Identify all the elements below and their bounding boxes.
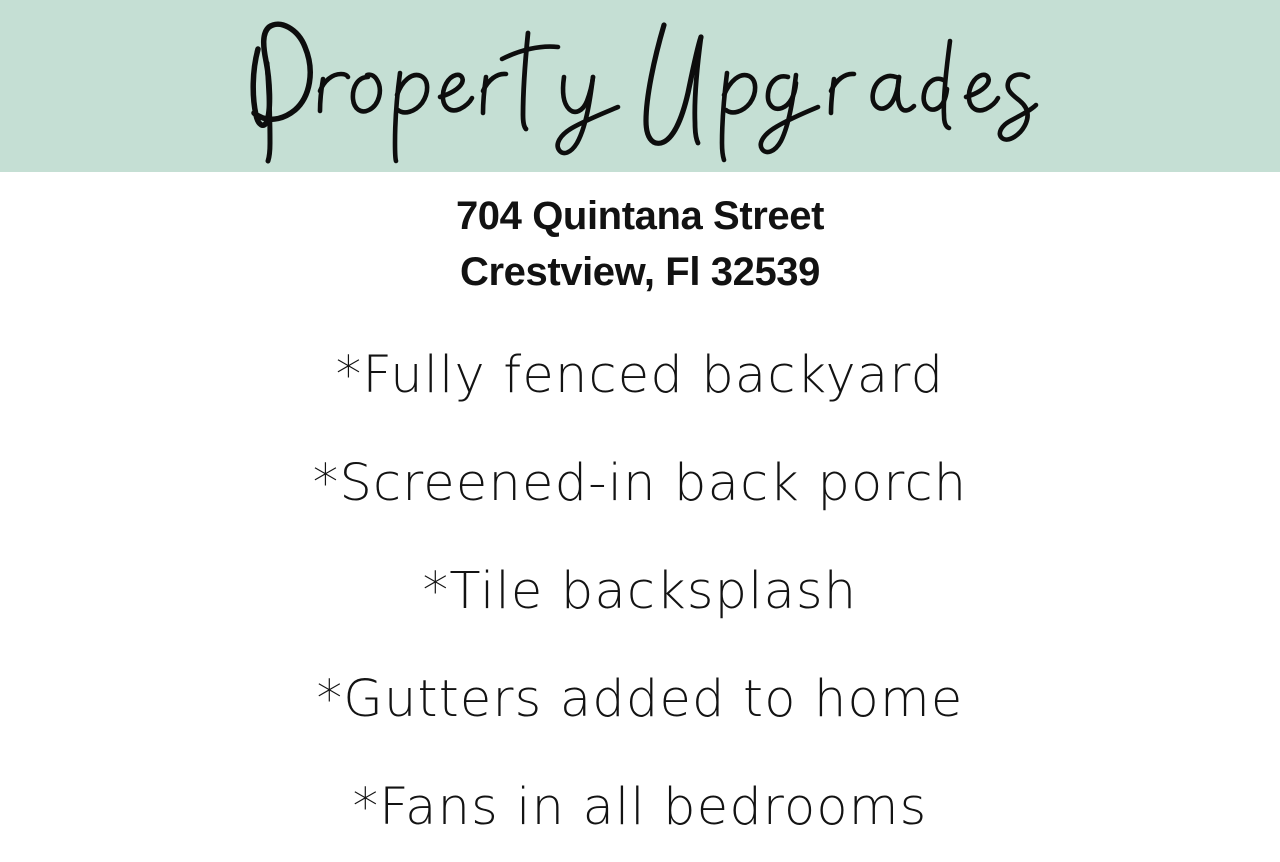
flyer-canvas: Property Upgrades <box>0 0 1280 852</box>
script-title-artwork: Property Upgrades <box>240 11 1040 161</box>
list-item: *Tile backsplash <box>0 538 1280 646</box>
list-item: *Fans in all bedrooms <box>0 754 1280 862</box>
script-word-property <box>253 24 618 161</box>
list-item: *Gutters added to home <box>0 646 1280 754</box>
list-item: *Screened-in back porch <box>0 430 1280 538</box>
list-item: *Fully fenced backyard <box>0 322 1280 430</box>
body-area: 704 Quintana Street Crestview, Fl 32539 … <box>0 172 1280 852</box>
address-line-street: 704 Quintana Street <box>0 188 1280 244</box>
script-word-upgrades <box>646 25 1036 160</box>
header-band: Property Upgrades <box>0 0 1280 172</box>
page-title: Property Upgrades <box>240 11 1040 161</box>
upgrades-list: *Fully fenced backyard *Screened-in back… <box>0 322 1280 862</box>
address-line-city-state-zip: Crestview, Fl 32539 <box>0 244 1280 300</box>
property-address: 704 Quintana Street Crestview, Fl 32539 <box>0 188 1280 300</box>
